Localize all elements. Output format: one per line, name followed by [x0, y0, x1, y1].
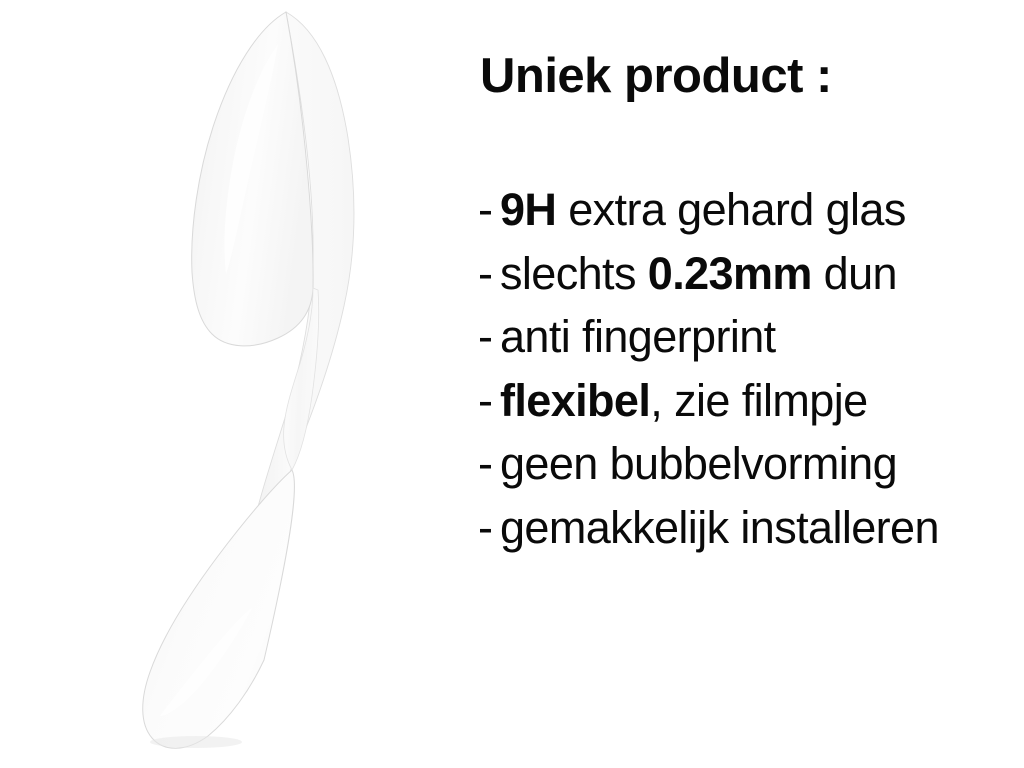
feature-list: -9H extra gehard glas -slechts 0.23mm du…: [470, 178, 1024, 559]
feature-text: geen bubbelvorming: [500, 438, 897, 489]
feature-text: extra gehard glas: [556, 184, 905, 235]
bullet-marker: -: [470, 496, 500, 560]
bullet-marker: -: [470, 242, 500, 306]
feature-emphasis: 9H: [500, 184, 556, 235]
bullet-marker: -: [470, 369, 500, 433]
page-title: Uniek product :: [480, 52, 832, 101]
bullet-marker: -: [470, 178, 500, 242]
glass-contact-shadow: [150, 736, 242, 748]
feature-text: , zie filmpje: [650, 375, 867, 426]
bullet-marker: -: [470, 305, 500, 369]
feature-text: dun: [812, 248, 897, 299]
feature-emphasis: flexibel: [500, 375, 650, 426]
list-item: -gemakkelijk installeren: [470, 496, 1024, 560]
glass-lower-face: [143, 470, 295, 748]
info-panel: Uniek product : -9H extra gehard glas -s…: [470, 0, 1024, 768]
promo-banner: Uniek product : -9H extra gehard glas -s…: [0, 0, 1024, 768]
list-item: -9H extra gehard glas: [470, 178, 1024, 242]
feature-text: anti fingerprint: [500, 311, 776, 362]
feature-emphasis: 0.23mm: [648, 248, 812, 299]
list-item: -slechts 0.23mm dun: [470, 242, 1024, 306]
list-item: -flexibel, zie filmpje: [470, 369, 1024, 433]
product-image: [0, 0, 460, 768]
list-item: -geen bubbelvorming: [470, 432, 1024, 496]
glass-upper-face: [192, 12, 313, 346]
feature-text: gemakkelijk installeren: [500, 502, 939, 553]
bullet-marker: -: [470, 432, 500, 496]
feature-text-lead: slechts: [500, 248, 648, 299]
list-item: -anti fingerprint: [470, 305, 1024, 369]
